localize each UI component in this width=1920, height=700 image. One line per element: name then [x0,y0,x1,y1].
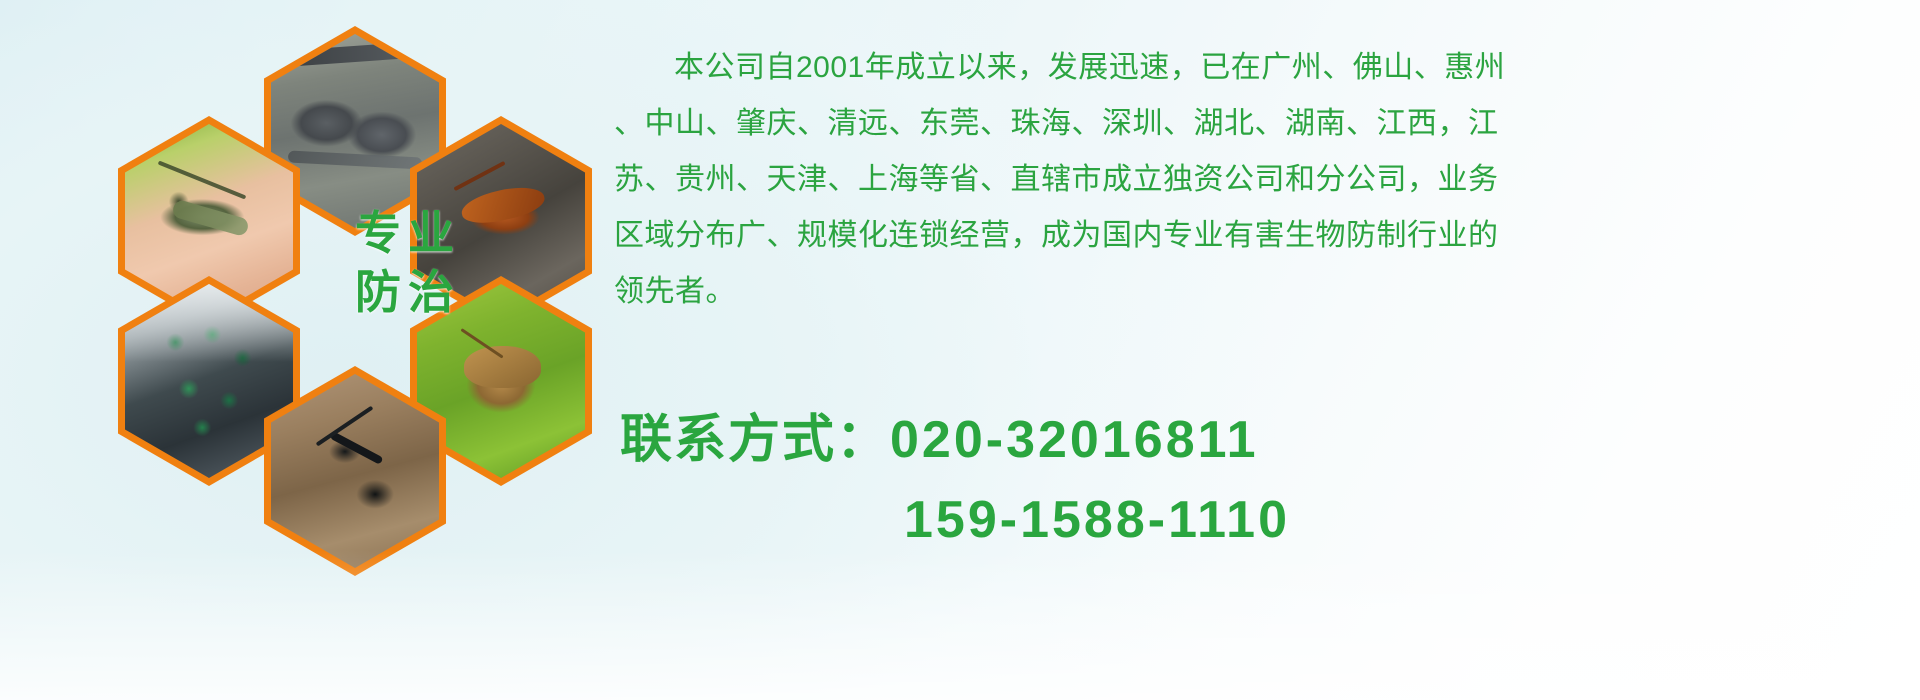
hex-photo-ant-image [271,374,439,568]
hex-photo-collage: 专业 防治 [80,8,600,568]
description-line-1: 本公司自2001年成立以来，发展迅速，已在广州、佛山、惠州 [614,40,1874,96]
collage-slogan-line1: 专业 [338,204,478,263]
contact-block: 联系方式：020-32016811 159-1588-1110 [620,400,1290,560]
description-line-4: 区域分布广、规模化连锁经营，成为国内专业有害生物防制行业的 [614,208,1874,264]
contact-row-secondary: 159-1588-1110 [620,480,1290,560]
collage-slogan: 专业 防治 [338,204,478,322]
contact-label: 联系方式： [620,411,890,469]
description-line-3: 苏、贵州、天津、上海等省、直辖市成立独资公司和分公司，业务 [614,152,1874,208]
collage-slogan-line2: 防治 [338,263,478,322]
promo-banner: 专业 防治 本公司自2001年成立以来，发展迅速，已在广州、佛山、惠州 、中山、… [0,0,1920,700]
description-line-2: 、中山、肇庆、清远、东莞、珠海、深圳、湖北、湖南、江西，江 [614,96,1874,152]
description-line-5: 领先者。 [614,264,1874,320]
company-description: 本公司自2001年成立以来，发展迅速，已在广州、佛山、惠州 、中山、肇庆、清远、… [614,40,1874,320]
contact-phone-landline[interactable]: 020-32016811 [890,411,1259,469]
contact-phone-mobile[interactable]: 159-1588-1110 [904,491,1290,549]
contact-row-primary: 联系方式：020-32016811 [620,400,1290,480]
